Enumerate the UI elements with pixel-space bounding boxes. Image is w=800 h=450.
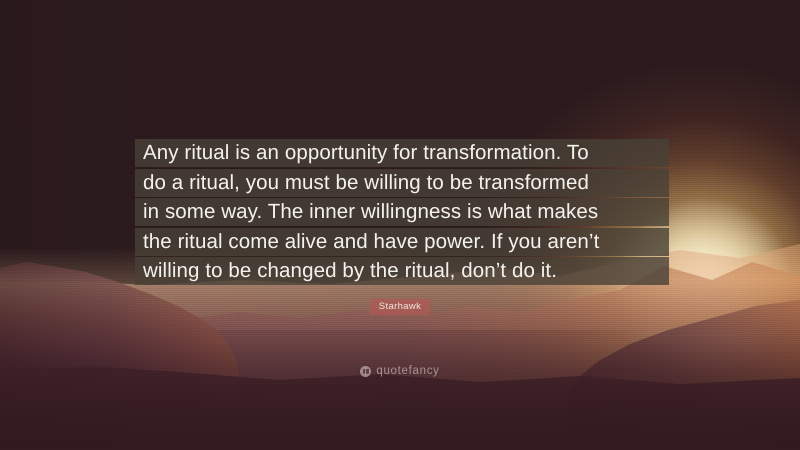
quote-poster: Any ritual is an opportunity for transfo… xyxy=(0,0,800,450)
quote-line: do a ritual, you must be willing to be t… xyxy=(135,169,669,197)
quote-mark-circle-icon xyxy=(360,366,371,377)
author-attribution: Starhawk xyxy=(0,296,800,315)
quote-line: in some way. The inner willingness is wh… xyxy=(135,198,669,226)
quote-line: the ritual come alive and have power. If… xyxy=(135,228,669,256)
quote-line: Any ritual is an opportunity for transfo… xyxy=(135,139,669,167)
author-name: Starhawk xyxy=(370,299,430,315)
watermark-brand: quotefancy xyxy=(376,365,439,378)
quote-line: willing to be changed by the ritual, don… xyxy=(135,257,669,285)
quote-text-block: Any ritual is an opportunity for transfo… xyxy=(135,139,669,285)
watermark: quotefancy xyxy=(0,364,800,382)
